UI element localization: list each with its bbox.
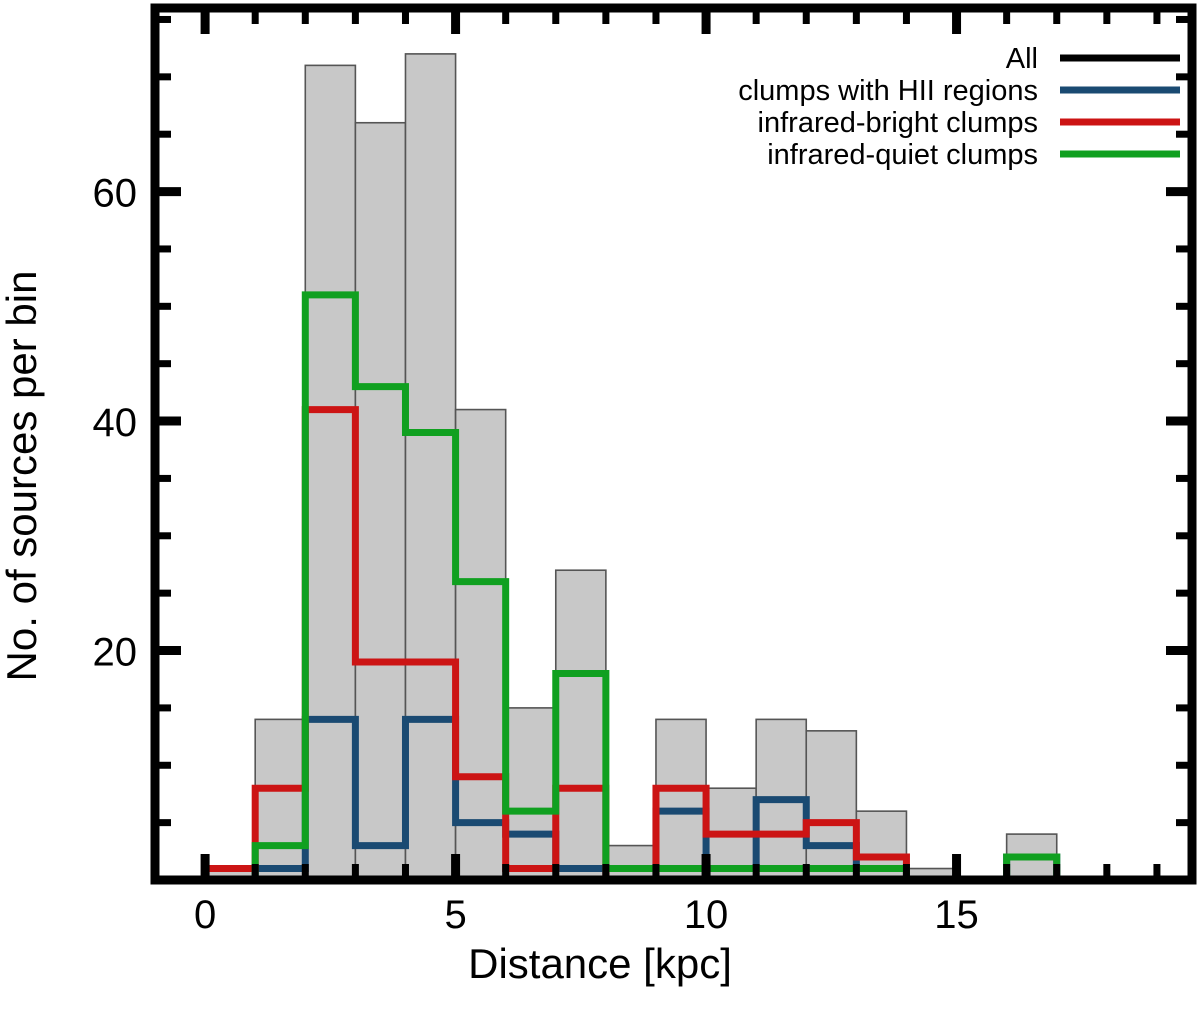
- x-tick-label: 15: [934, 893, 979, 937]
- legend-label-3: infrared-quiet clumps: [767, 139, 1038, 171]
- y-tick-label: 60: [93, 172, 138, 216]
- histogram-bar: [305, 65, 355, 880]
- histogram-bar: [456, 410, 506, 880]
- x-tick-label: 5: [444, 893, 466, 937]
- y-tick-label: 20: [93, 631, 138, 675]
- histogram-bar: [806, 731, 856, 880]
- histogram-bar: [656, 719, 706, 880]
- histogram-bar: [506, 708, 556, 880]
- y-tick-label: 40: [93, 401, 138, 445]
- histogram-plot: 051015204060Allclumps with HII regionsin…: [0, 0, 1200, 1009]
- legend-label-2: infrared-bright clumps: [758, 107, 1038, 139]
- histogram-bar: [606, 846, 656, 880]
- x-tick-label: 0: [194, 893, 216, 937]
- x-tick-label: 10: [684, 893, 729, 937]
- histogram-bar: [405, 54, 455, 880]
- x-axis-title: Distance [kpc]: [0, 940, 1200, 988]
- histogram-bar: [355, 123, 405, 880]
- histogram-bar: [255, 719, 305, 880]
- chart-figure: 051015204060Allclumps with HII regionsin…: [0, 0, 1200, 1009]
- legend-label-1: clumps with HII regions: [738, 75, 1038, 107]
- histogram-bar: [556, 570, 606, 880]
- legend-label-0: All: [1006, 43, 1038, 75]
